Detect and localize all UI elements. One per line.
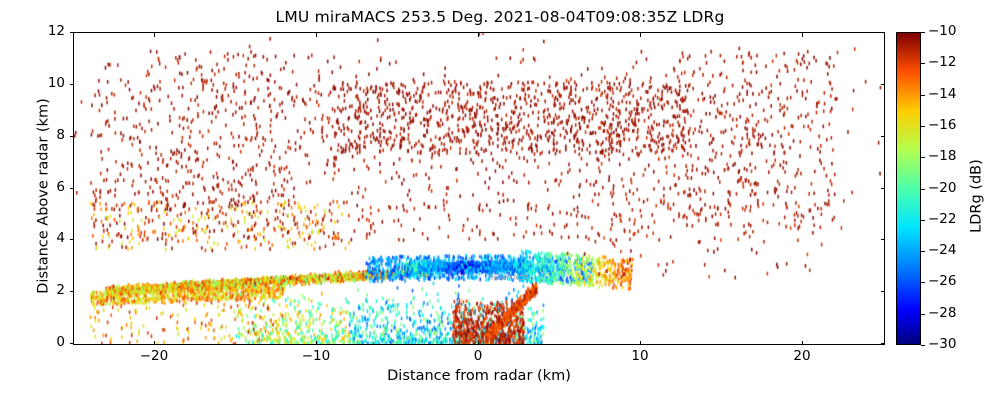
y-tick-right (881, 239, 885, 240)
y-tick-right (881, 84, 885, 85)
y-tick (70, 239, 74, 240)
colorbar-tick-label: −26 (928, 273, 957, 289)
colorbar-tick-label: −18 (928, 148, 957, 164)
x-tick (154, 341, 155, 345)
colorbar-tick (921, 282, 925, 283)
y-tick (70, 188, 74, 189)
y-tick-label: 12 (13, 23, 65, 39)
y-tick (70, 84, 74, 85)
colorbar-tick (921, 189, 925, 190)
x-tick-top (802, 33, 803, 37)
scatter-canvas (74, 33, 884, 344)
x-tick-top (478, 33, 479, 37)
radar-ldr-figure: LMU miraMACS 253.5 Deg. 2021-08-04T09:08… (0, 0, 1000, 400)
colorbar-label: LDRg (dB) (969, 40, 985, 353)
colorbar-tick-label: −20 (928, 180, 957, 196)
y-tick-right (881, 343, 885, 344)
colorbar-tick (921, 32, 925, 33)
plot-area: miraMACS (73, 32, 885, 345)
colorbar-tick-label: −12 (928, 54, 957, 70)
colorbar-tick (921, 126, 925, 127)
y-tick-right (881, 32, 885, 33)
colorbar (896, 32, 921, 345)
colorbar-tick-label: −14 (928, 86, 957, 102)
watermark-text: miraMACS (489, 274, 529, 282)
colorbar-tick (921, 95, 925, 96)
x-tick-label: −20 (124, 348, 184, 364)
colorbar-tick-label: −30 (928, 336, 957, 352)
x-tick-top (154, 33, 155, 37)
colorbar-tick (921, 220, 925, 221)
x-tick (640, 341, 641, 345)
x-tick-label: 20 (772, 348, 832, 364)
y-axis-label: Distance Above radar (km) (36, 40, 52, 353)
colorbar-tick (921, 251, 925, 252)
y-tick-right (881, 188, 885, 189)
x-tick-label: 10 (610, 348, 670, 364)
y-tick (70, 32, 74, 33)
colorbar-tick-label: −16 (928, 117, 957, 133)
x-tick-label: −10 (286, 348, 346, 364)
y-tick-right (881, 136, 885, 137)
x-axis-label: Distance from radar (km) (73, 368, 885, 384)
y-tick (70, 136, 74, 137)
y-tick (70, 291, 74, 292)
colorbar-tick-label: −22 (928, 211, 957, 227)
colorbar-tick-label: −28 (928, 305, 957, 321)
x-tick (478, 341, 479, 345)
colorbar-tick (921, 345, 925, 346)
y-tick-right (881, 291, 885, 292)
x-tick-top (640, 33, 641, 37)
colorbar-gradient (897, 33, 920, 344)
x-tick (316, 341, 317, 345)
y-tick (70, 343, 74, 344)
colorbar-tick-label: −24 (928, 242, 957, 258)
x-tick-top (316, 33, 317, 37)
colorbar-tick (921, 157, 925, 158)
x-tick-label: 0 (448, 348, 508, 364)
x-tick (802, 341, 803, 345)
colorbar-tick-label: −10 (928, 23, 957, 39)
colorbar-tick (921, 63, 925, 64)
colorbar-tick (921, 314, 925, 315)
chart-title: LMU miraMACS 253.5 Deg. 2021-08-04T09:08… (0, 8, 1000, 26)
